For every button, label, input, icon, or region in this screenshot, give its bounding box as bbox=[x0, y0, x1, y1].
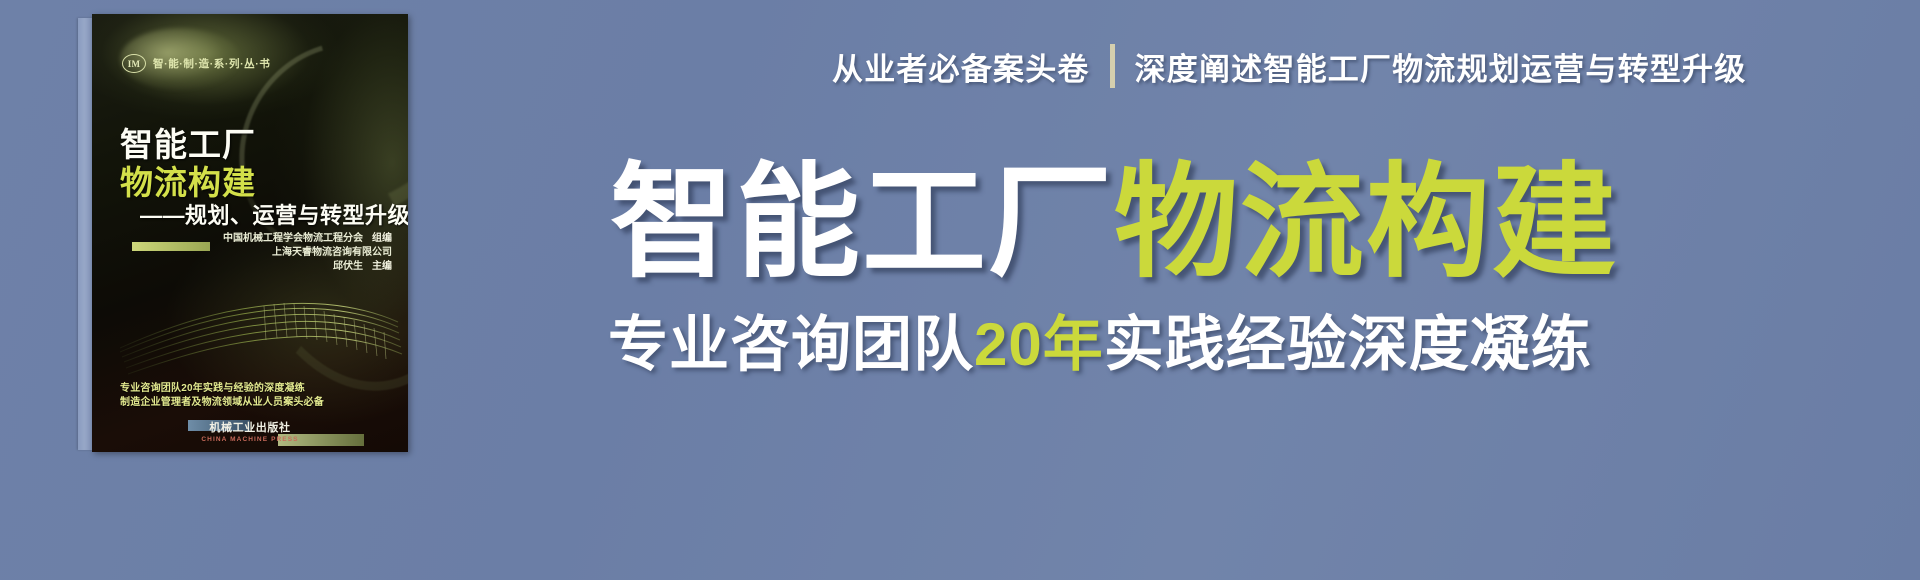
tagline-left-text: 从业者必备案头卷 bbox=[832, 44, 1090, 89]
subheadline-prefix: 专业咨询团队 bbox=[608, 296, 974, 383]
credit-row: 邱伏生 主编 bbox=[223, 260, 392, 274]
book-cover-image: IM 智·能·制·造·系·列·丛·书 智能工厂 物流构建 ——规划、运营与转型升… bbox=[78, 14, 408, 452]
credit-role: 主编 bbox=[372, 260, 392, 274]
book-front-cover: IM 智·能·制·造·系·列·丛·书 智能工厂 物流构建 ——规划、运营与转型升… bbox=[92, 14, 408, 452]
publisher-logo: 机械工业出版社 CHINA MACHINE PRESS bbox=[201, 419, 298, 443]
book-title-line-2: 物流构建 bbox=[120, 156, 256, 204]
credit-org: 中国机械工程学会物流工程分会 bbox=[223, 232, 363, 246]
sub-headline: 专业咨询团队 20年 实践经验深度凝练 bbox=[608, 296, 1592, 383]
credit-org: 上海天睿物流咨询有限公司 bbox=[272, 246, 392, 260]
banner-text-block: 从业者必备案头卷 深度阐述智能工厂物流规划运营与转型升级 智能工厂 物流构建 专… bbox=[600, 0, 1920, 580]
credit-role: 组编 bbox=[372, 232, 392, 246]
publisher-name-cn: 机械工业出版社 bbox=[201, 419, 298, 435]
im-series-badge-icon: IM bbox=[122, 54, 146, 73]
cover-promo-line-1: 专业咨询团队20年实践与经验的深度凝练 bbox=[120, 379, 305, 394]
tagline-divider bbox=[1110, 44, 1115, 88]
credit-row: 上海天睿物流咨询有限公司 bbox=[223, 246, 392, 260]
series-label-row: IM 智·能·制·造·系·列·丛·书 bbox=[122, 54, 270, 73]
tagline-row: 从业者必备案头卷 深度阐述智能工厂物流规划运营与转型升级 bbox=[832, 44, 1746, 88]
cover-promo-line-2: 制造企业管理者及物流领域从业人员案头必备 bbox=[120, 393, 324, 408]
main-headline: 智能工厂 物流构建 bbox=[610, 160, 1618, 286]
headline-green-part: 物流构建 bbox=[1114, 160, 1618, 286]
cover-rule-bar bbox=[132, 242, 210, 251]
promotional-banner: IM 智·能·制·造·系·列·丛·书 智能工厂 物流构建 ——规划、运营与转型升… bbox=[0, 0, 1920, 580]
series-label-text: 智·能·制·造·系·列·丛·书 bbox=[153, 56, 270, 71]
headline-white-part: 智能工厂 bbox=[610, 160, 1114, 286]
credit-org: 邱伏生 bbox=[333, 260, 363, 274]
book-credits: 中国机械工程学会物流工程分会 组编 上海天睿物流咨询有限公司 邱伏生 主编 bbox=[223, 232, 392, 274]
cover-wave-artwork bbox=[114, 282, 404, 392]
subheadline-highlight: 20年 bbox=[974, 296, 1104, 383]
tagline-right-text: 深度阐述智能工厂物流规划运营与转型升级 bbox=[1135, 44, 1747, 89]
book-subtitle: ——规划、运营与转型升级 bbox=[140, 198, 408, 230]
subheadline-suffix: 实践经验深度凝练 bbox=[1104, 296, 1592, 383]
credit-row: 中国机械工程学会物流工程分会 组编 bbox=[223, 232, 392, 246]
publisher-name-en: CHINA MACHINE PRESS bbox=[201, 436, 298, 443]
